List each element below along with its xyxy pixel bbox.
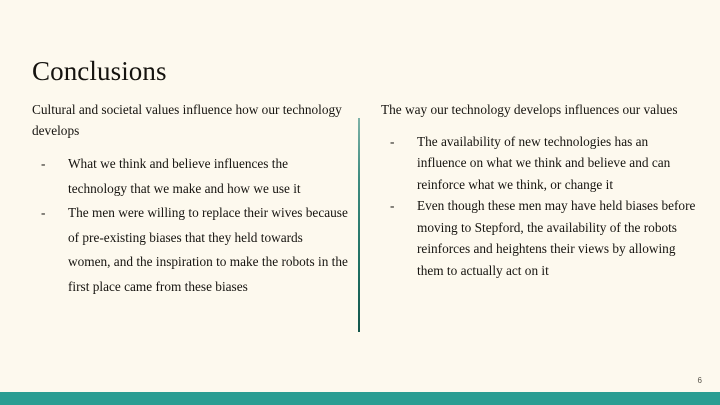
column-left-heading: Cultural and societal values influence h… — [32, 100, 348, 141]
bullet-dash-icon: - — [390, 195, 394, 217]
list-item: - The men were willing to replace their … — [32, 201, 348, 299]
slide-canvas: Conclusions Cultural and societal values… — [0, 0, 720, 405]
content-column-left: Cultural and societal values influence h… — [32, 100, 348, 299]
list-item-label: Even though these men may have held bias… — [417, 198, 695, 278]
page-number: 6 — [698, 377, 702, 385]
content-column-right: The way our technology develops influenc… — [381, 100, 697, 281]
column-right-bullet-list: - The availability of new technologies h… — [381, 131, 697, 282]
column-right-heading: The way our technology develops influenc… — [381, 100, 697, 121]
list-item: - What we think and believe influences t… — [32, 152, 348, 201]
list-item-label: What we think and believe influences the… — [68, 156, 301, 196]
list-item: - Even though these men may have held bi… — [381, 195, 697, 281]
column-divider — [358, 118, 360, 332]
bullet-dash-icon: - — [390, 131, 394, 153]
list-item: - The availability of new technologies h… — [381, 131, 697, 196]
bullet-dash-icon: - — [41, 201, 45, 226]
footer-accent-bar — [0, 392, 720, 405]
column-left-bullet-list: - What we think and believe influences t… — [32, 152, 348, 299]
page-title: Conclusions — [32, 56, 167, 87]
list-item-label: The availability of new technologies has… — [417, 134, 670, 192]
list-item-label: The men were willing to replace their wi… — [68, 205, 348, 294]
bullet-dash-icon: - — [41, 152, 45, 177]
